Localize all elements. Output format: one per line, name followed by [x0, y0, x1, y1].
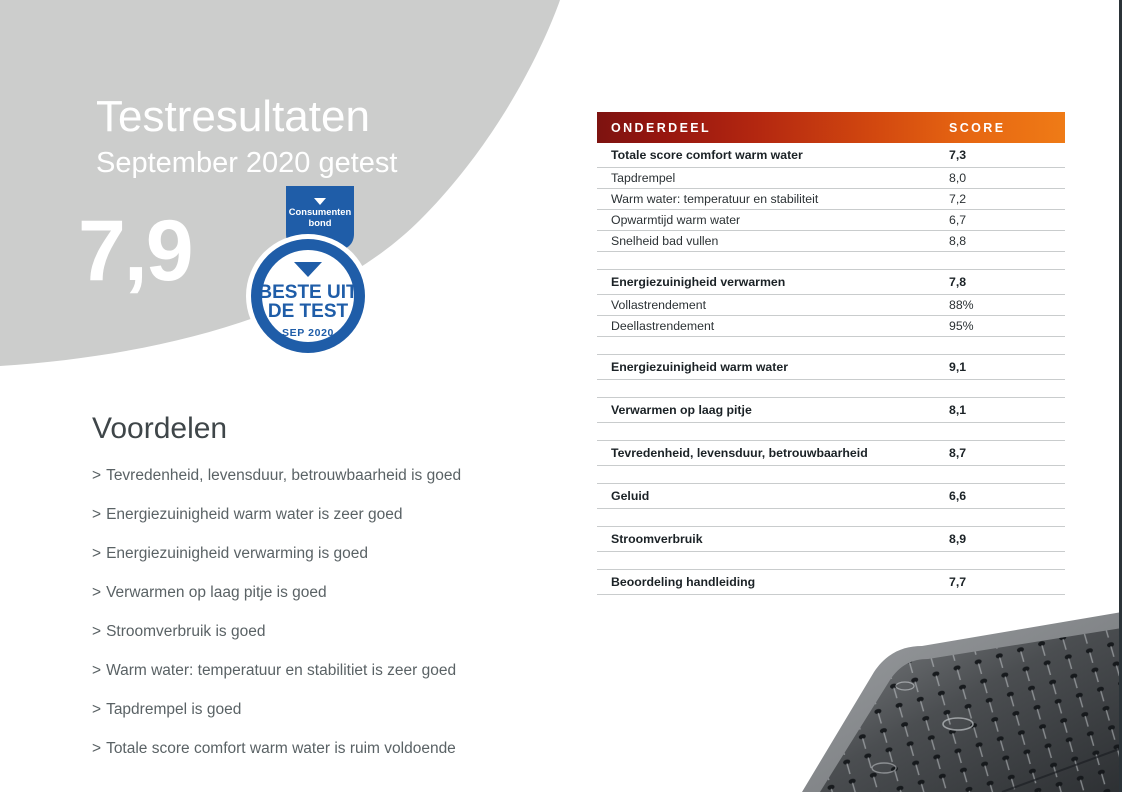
- table-row: Tapdrempel8,0: [597, 168, 1065, 189]
- row-label: Opwarmtijd warm water: [597, 213, 949, 227]
- table-row: Energiezuinigheid warm water9,1: [597, 355, 1065, 380]
- bullet-chevron-icon: >: [92, 506, 101, 523]
- table-row: Tevredenheid, levensduur, betrouwbaarhei…: [597, 441, 1065, 466]
- table-row: Snelheid bad vullen8,8: [597, 231, 1065, 252]
- table-group: Verwarmen op laag pitje8,1: [597, 397, 1065, 423]
- row-label: Vollastrendement: [597, 298, 949, 312]
- advantages-list: >Tevredenheid, levensduur, betrouwbaarhe…: [92, 466, 572, 759]
- table-row: Stroomverbruik8,9: [597, 527, 1065, 552]
- advantage-item-label: Verwarmen op laag pitje is goed: [106, 584, 327, 601]
- row-label: Stroomverbruik: [597, 532, 949, 546]
- advantage-item-label: Warm water: temperatuur en stabilitiet i…: [106, 662, 456, 679]
- advantage-item: >Energiezuinigheid warm water is zeer go…: [92, 505, 572, 525]
- page-subtitle: September 2020 getest: [96, 144, 516, 182]
- row-score: 8,8: [949, 234, 1065, 248]
- row-score: 6,7: [949, 213, 1065, 227]
- bullet-chevron-icon: >: [92, 545, 101, 562]
- table-group: Energiezuinigheid verwarmen7,8Vollastren…: [597, 269, 1065, 337]
- table-body: Totale score comfort warm water7,3Tapdre…: [597, 143, 1065, 595]
- table-group: Totale score comfort warm water7,3Tapdre…: [597, 143, 1065, 252]
- table-group: Stroomverbruik8,9: [597, 526, 1065, 552]
- table-header-row: ONDERDEEL SCORE: [597, 112, 1065, 143]
- table-group: Energiezuinigheid warm water9,1: [597, 354, 1065, 380]
- advantage-item: >Stroomverbruik is goed: [92, 622, 572, 642]
- row-label: Energiezuinigheid warm water: [597, 360, 949, 374]
- row-label: Geluid: [597, 489, 949, 503]
- advantage-item-label: Stroomverbruik is goed: [106, 623, 265, 640]
- badge-date: SEP 2020: [282, 327, 334, 339]
- advantage-item: >Tapdrempel is goed: [92, 700, 572, 720]
- page-title: Testresultaten: [96, 92, 516, 142]
- row-label: Totale score comfort warm water: [597, 148, 949, 162]
- badge-brand-line2: bond: [309, 217, 332, 228]
- advantages-section: Voordelen >Tevredenheid, levensduur, bet…: [92, 412, 572, 778]
- table-group: Geluid6,6: [597, 483, 1065, 509]
- row-label: Snelheid bad vullen: [597, 234, 949, 248]
- bullet-chevron-icon: >: [92, 623, 101, 640]
- advantages-title: Voordelen: [92, 412, 572, 446]
- table-row: Warm water: temperatuur en stabiliteit7,…: [597, 189, 1065, 210]
- row-score: 88%: [949, 298, 1065, 312]
- advantage-item: >Verwarmen op laag pitje is goed: [92, 583, 572, 603]
- advantage-item: >Energiezuinigheid verwarming is goed: [92, 544, 572, 564]
- overall-score: 7,9: [78, 208, 192, 294]
- table-row: Totale score comfort warm water7,3: [597, 143, 1065, 168]
- hero-block: Testresultaten September 2020 getest: [96, 92, 516, 182]
- row-score: 8,9: [949, 532, 1065, 546]
- advantage-item-label: Tevredenheid, levensduur, betrouwbaarhei…: [106, 467, 461, 484]
- bullet-chevron-icon: >: [92, 662, 101, 679]
- badge-label-line2: DE TEST: [268, 301, 349, 322]
- badge-brand-line1: Consumenten: [289, 206, 352, 217]
- test-results-page: Testresultaten September 2020 getest 7,9…: [0, 0, 1122, 792]
- scores-table: ONDERDEEL SCORE Totale score comfort war…: [597, 112, 1065, 595]
- row-score: 7,8: [949, 275, 1065, 289]
- advantage-item: >Warm water: temperatuur en stabilitiet …: [92, 661, 572, 681]
- bullet-chevron-icon: >: [92, 584, 101, 601]
- advantage-item-label: Tapdrempel is goed: [106, 701, 241, 718]
- column-header-onderdeel: ONDERDEEL: [597, 121, 949, 135]
- row-label: Deellastrendement: [597, 319, 949, 333]
- row-score: 9,1: [949, 360, 1065, 374]
- column-header-score: SCORE: [949, 121, 1065, 135]
- row-label: Warm water: temperatuur en stabiliteit: [597, 192, 949, 206]
- advantage-item-label: Energiezuinigheid warm water is zeer goe…: [106, 506, 402, 523]
- advantage-item: >Totale score comfort warm water is ruim…: [92, 739, 572, 759]
- row-score: 95%: [949, 319, 1065, 333]
- row-label: Tapdrempel: [597, 171, 949, 185]
- row-score: 8,0: [949, 171, 1065, 185]
- table-row: Geluid6,6: [597, 484, 1065, 509]
- row-label: Tevredenheid, levensduur, betrouwbaarhei…: [597, 446, 949, 460]
- row-label: Verwarmen op laag pitje: [597, 403, 949, 417]
- table-row: Energiezuinigheid verwarmen7,8: [597, 270, 1065, 295]
- showerhead-photo: [762, 572, 1122, 792]
- row-score: 6,6: [949, 489, 1065, 503]
- bullet-chevron-icon: >: [92, 467, 101, 484]
- advantage-item-label: Energiezuinigheid verwarming is goed: [106, 545, 368, 562]
- bullet-chevron-icon: >: [92, 740, 101, 757]
- badge-label-line1: BESTE UIT: [258, 282, 358, 303]
- advantage-item: >Tevredenheid, levensduur, betrouwbaarhe…: [92, 466, 572, 486]
- row-score: 8,1: [949, 403, 1065, 417]
- row-score: 8,7: [949, 446, 1065, 460]
- table-row: Opwarmtijd warm water6,7: [597, 210, 1065, 231]
- table-group: Tevredenheid, levensduur, betrouwbaarhei…: [597, 440, 1065, 466]
- table-row: Deellastrendement95%: [597, 316, 1065, 337]
- advantage-item-label: Totale score comfort warm water is ruim …: [106, 740, 456, 757]
- row-label: Energiezuinigheid verwarmen: [597, 275, 949, 289]
- bullet-chevron-icon: >: [92, 701, 101, 718]
- table-row: Vollastrendement88%: [597, 295, 1065, 316]
- row-score: 7,3: [949, 148, 1065, 162]
- row-score: 7,2: [949, 192, 1065, 206]
- beste-uit-de-test-badge: Consumenten bond BESTE UIT DE TEST SEP 2…: [240, 186, 380, 358]
- table-row: Verwarmen op laag pitje8,1: [597, 398, 1065, 423]
